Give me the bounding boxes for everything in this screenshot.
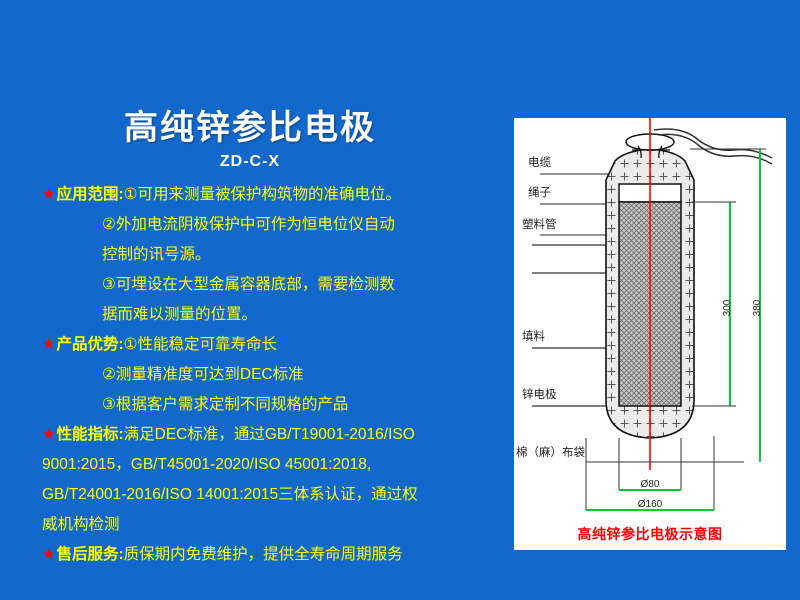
- dimension-outer-diameter: Ø160: [586, 499, 714, 510]
- section-line: ②测量精准度可达到DEC标准: [102, 366, 304, 383]
- dimension-inner-height-label: 300: [722, 299, 733, 316]
- section-heading-row: ★产品优势:①性能稳定可靠寿命长: [42, 330, 517, 360]
- electrode-diagram-svg: 电缆 绳子 塑料管 填料 锌电极 棉（麻）布袋: [514, 118, 786, 550]
- section-line: 9001:2015，GB/T45001-2020/ISO 45001:2018,: [42, 456, 371, 473]
- dimension-inner-diameter-label: Ø80: [641, 479, 660, 490]
- section-line-row: GB/T24001-2016/ISO 14001:2015三体系认证，通过权: [42, 480, 517, 510]
- diagram-label-cloth-bag: 棉（麻）布袋: [516, 445, 585, 459]
- section-heading-row: ★应用范围:①可用来测量被保护构筑物的准确电位。: [42, 180, 517, 210]
- diagram-label-rope: 绳子: [528, 185, 551, 199]
- star-bullet-icon: ★: [42, 186, 55, 203]
- section-line-row: 控制的讯号源。: [42, 240, 517, 270]
- section-heading: 应用范围:: [56, 186, 123, 203]
- star-bullet-icon: ★: [42, 426, 55, 443]
- diagram-caption: 高纯锌参比电极示意图: [514, 524, 786, 544]
- section-line-row: 9001:2015，GB/T45001-2020/ISO 45001:2018,: [42, 450, 517, 480]
- section-performance-indicators: ★性能指标:满足DEC标准，通过GB/T19001-2016/ISO 9001:…: [42, 420, 517, 540]
- dimension-outer-height-label: 380: [752, 299, 763, 316]
- section-line-row: ②测量精准度可达到DEC标准: [42, 360, 517, 390]
- page-subtitle: ZD-C-X: [0, 153, 500, 171]
- section-heading-row: ★售后服务:质保期内免费维护，提供全寿命周期服务: [42, 540, 517, 570]
- section-line: ③可埋设在大型金属容器底部，需要检测数: [102, 276, 395, 293]
- section-line-row: ③可埋设在大型金属容器底部，需要检测数: [42, 270, 517, 300]
- section-line-row: 据而难以测量的位置。: [42, 300, 517, 330]
- section-after-sales-service: ★售后服务:质保期内免费维护，提供全寿命周期服务: [42, 540, 517, 570]
- section-product-advantages: ★产品优势:①性能稳定可靠寿命长 ②测量精准度可达到DEC标准 ③根据客户需求定…: [42, 330, 517, 420]
- section-line: ②外加电流阴极保护中可作为恒电位仪自动: [102, 216, 395, 233]
- electrode-diagram-panel: 电缆 绳子 塑料管 填料 锌电极 棉（麻）布袋: [514, 118, 786, 550]
- dimension-inner-diameter: Ø80: [619, 479, 681, 490]
- section-line: 据而难以测量的位置。: [102, 306, 257, 323]
- dimension-outer-diameter-label: Ø160: [638, 499, 663, 510]
- section-line: 满足DEC标准，通过GB/T19001-2016/ISO: [124, 426, 415, 443]
- star-bullet-icon: ★: [42, 336, 55, 353]
- section-line: 质保期内免费维护，提供全寿命周期服务: [124, 546, 403, 563]
- section-heading: 售后服务:: [56, 546, 123, 563]
- star-bullet-icon: ★: [42, 546, 55, 563]
- section-line: 威机构检测: [42, 516, 120, 533]
- section-heading: 性能指标:: [56, 426, 123, 443]
- dimension-inner-height: 300: [692, 202, 736, 406]
- diagram-label-plastic-tube: 塑料管: [522, 217, 557, 231]
- section-line-row: ③根据客户需求定制不同规格的产品: [42, 390, 517, 420]
- section-line-row: ②外加电流阴极保护中可作为恒电位仪自动: [42, 210, 517, 240]
- diagram-label-backfill: 填料: [522, 329, 545, 343]
- diagram-label-zinc-electrode: 锌电极: [522, 387, 557, 401]
- diagram-label-cable: 电缆: [528, 156, 551, 169]
- section-application-scope: ★应用范围:①可用来测量被保护构筑物的准确电位。 ②外加电流阴极保护中可作为恒电…: [42, 180, 517, 330]
- section-line: GB/T24001-2016/ISO 14001:2015三体系认证，通过权: [42, 486, 418, 503]
- section-line: ①性能稳定可靠寿命长: [124, 336, 277, 353]
- page-title: 高纯锌参比电极: [0, 100, 500, 149]
- section-line: 控制的讯号源。: [102, 246, 211, 263]
- section-heading-row: ★性能指标:满足DEC标准，通过GB/T19001-2016/ISO: [42, 420, 517, 450]
- section-line-row: 威机构检测: [42, 510, 517, 540]
- witness-lines: [586, 436, 744, 510]
- content-body: ★应用范围:①可用来测量被保护构筑物的准确电位。 ②外加电流阴极保护中可作为恒电…: [42, 180, 517, 570]
- section-line: ③根据客户需求定制不同规格的产品: [102, 396, 348, 413]
- section-heading: 产品优势:: [56, 336, 123, 353]
- section-line: ①可用来测量被保护构筑物的准确电位。: [124, 186, 401, 203]
